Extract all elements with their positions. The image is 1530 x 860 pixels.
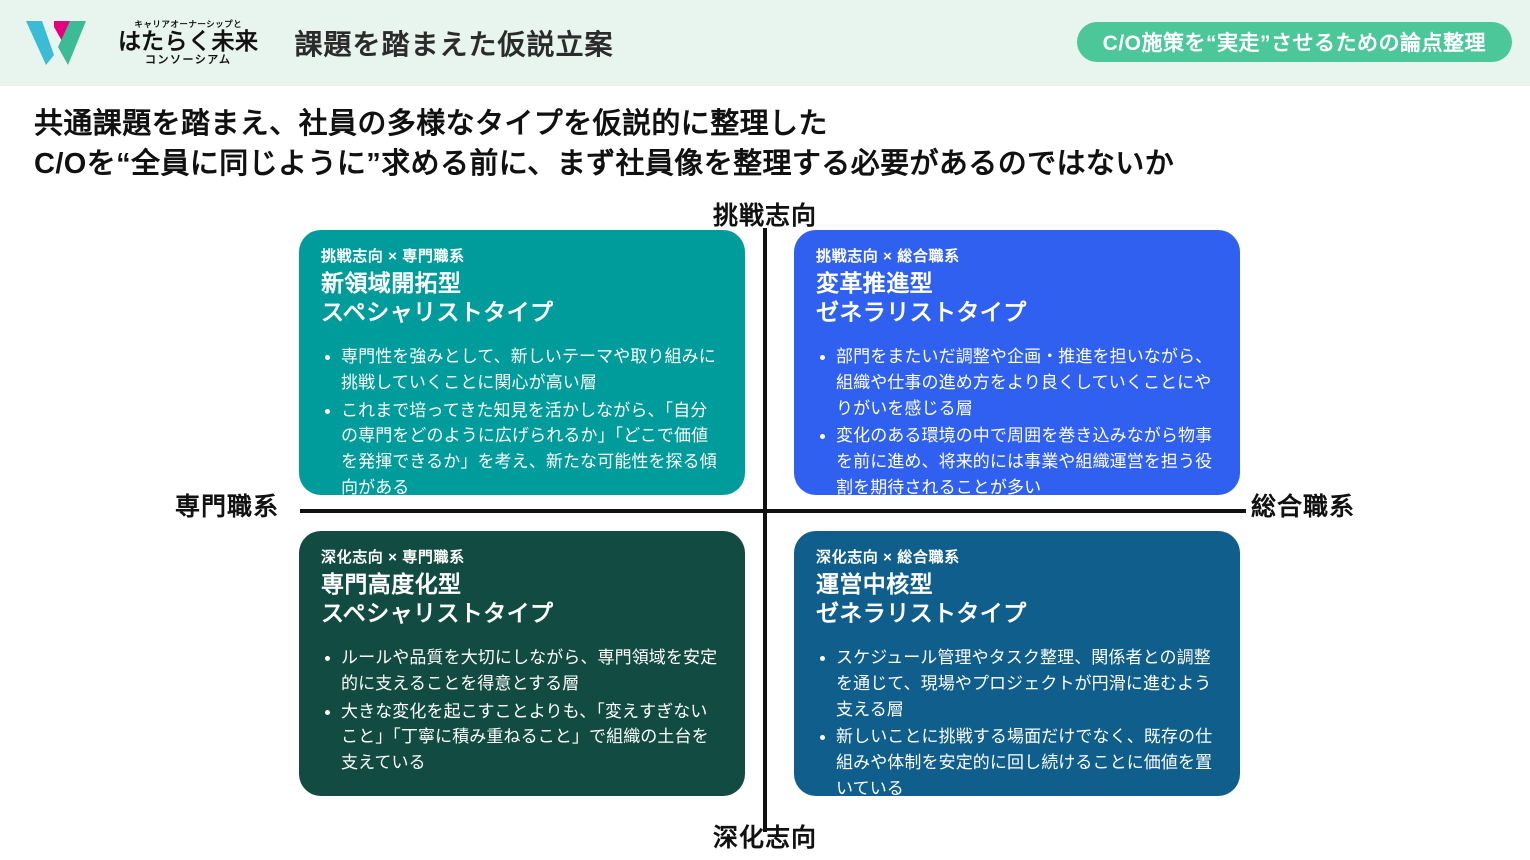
quadrant-card-bottom-left[interactable]: 深化志向 × 専門職系 専門高度化型 スペシャリストタイプ ルールや品質を大切に… bbox=[299, 531, 745, 796]
list-item: 新しいことに挑戦する場面だけでなく、既存の仕組みや体制を安定的に回し続けることに… bbox=[816, 724, 1218, 801]
axis-label-left: 専門職系 bbox=[175, 487, 279, 523]
matrix-vertical-axis bbox=[763, 228, 767, 832]
quadrant-card-top-left[interactable]: 挑戦志向 × 専門職系 新領域開拓型 スペシャリストタイプ 専門性を強みとして、… bbox=[299, 230, 745, 495]
quadrant-title: 運営中核型 ゼネラリストタイプ bbox=[816, 570, 1218, 629]
quadrant-kicker: 深化志向 × 専門職系 bbox=[321, 549, 723, 567]
list-item: 大きな変化を起こすことよりも、「変えすぎないこと」「丁寧に積み重ねること」で組織… bbox=[321, 699, 723, 776]
list-item: これまで培ってきた知見を活かしながら、「自分の専門をどのように広げられるか」「ど… bbox=[321, 398, 723, 501]
list-item: スケジュール管理やタスク整理、関係者との調整を通じて、現場やプロジェクトが円滑に… bbox=[816, 645, 1218, 722]
matrix-horizontal-axis bbox=[300, 509, 1246, 513]
list-item: ルールや品質を大切にしながら、専門領域を安定的に支えることを得意とする層 bbox=[321, 645, 723, 697]
axis-label-top: 挑戦志向 bbox=[713, 196, 817, 232]
quadrant-title: 専門高度化型 スペシャリストタイプ bbox=[321, 570, 723, 629]
list-item: 変化のある環境の中で周囲を巻き込みながら物事を前に進め、将来的には事業や組織運営… bbox=[816, 423, 1218, 500]
axis-label-right: 総合職系 bbox=[1251, 487, 1355, 523]
quadrant-title: 新領域開拓型 スペシャリストタイプ bbox=[321, 269, 723, 328]
quadrant-bullet-list: ルールや品質を大切にしながら、専門領域を安定的に支えることを得意とする層 大きな… bbox=[321, 645, 723, 776]
list-item: 部門をまたいだ調整や企画・推進を担いながら、組織や仕事の進め方をより良くしていく… bbox=[816, 344, 1218, 421]
quadrant-kicker: 深化志向 × 総合職系 bbox=[816, 549, 1218, 567]
list-item: 専門性を強みとして、新しいテーマや取り組みに挑戦していくことに関心が高い層 bbox=[321, 344, 723, 396]
axis-label-bottom: 深化志向 bbox=[713, 818, 817, 854]
quadrant-kicker: 挑戦志向 × 総合職系 bbox=[816, 248, 1218, 266]
quadrant-matrix: 挑戦志向 深化志向 専門職系 総合職系 挑戦志向 × 専門職系 新領域開拓型 ス… bbox=[0, 0, 1530, 860]
quadrant-bullet-list: 部門をまたいだ調整や企画・推進を担いながら、組織や仕事の進め方をより良くしていく… bbox=[816, 344, 1218, 501]
quadrant-kicker: 挑戦志向 × 専門職系 bbox=[321, 248, 723, 266]
quadrant-bullet-list: 専門性を強みとして、新しいテーマや取り組みに挑戦していくことに関心が高い層 これ… bbox=[321, 344, 723, 501]
quadrant-card-top-right[interactable]: 挑戦志向 × 総合職系 変革推進型 ゼネラリストタイプ 部門をまたいだ調整や企画… bbox=[794, 230, 1240, 495]
quadrant-title: 変革推進型 ゼネラリストタイプ bbox=[816, 269, 1218, 328]
quadrant-bullet-list: スケジュール管理やタスク整理、関係者との調整を通じて、現場やプロジェクトが円滑に… bbox=[816, 645, 1218, 802]
quadrant-card-bottom-right[interactable]: 深化志向 × 総合職系 運営中核型 ゼネラリストタイプ スケジュール管理やタスク… bbox=[794, 531, 1240, 796]
